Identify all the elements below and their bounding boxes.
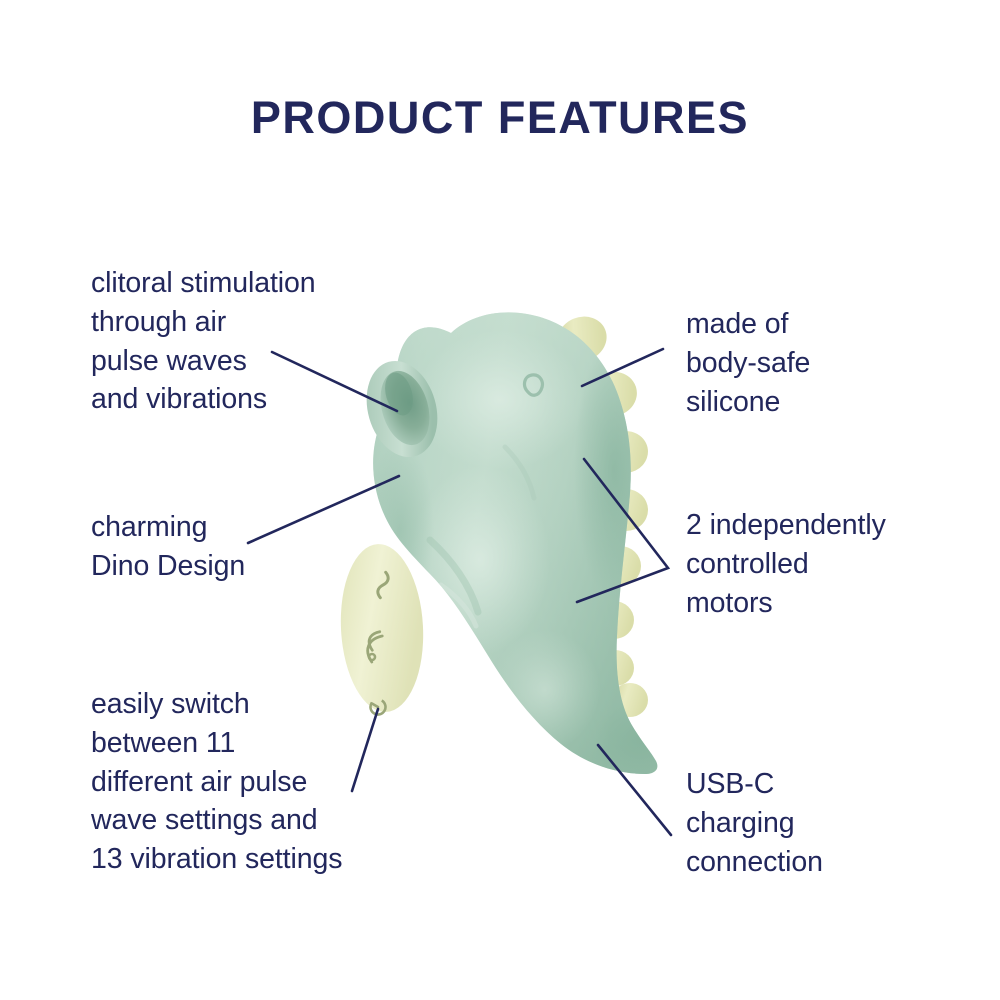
leader-line-dino-design — [248, 476, 399, 543]
leader-line-settings — [352, 709, 378, 791]
leader-line-silicone — [582, 349, 663, 386]
leader-line-usbc — [598, 745, 671, 835]
product-features-infographic: PRODUCT FEATURES — [0, 0, 1000, 1000]
leader-line-motors — [577, 459, 668, 602]
leader-line-air-pulse — [272, 352, 397, 411]
leader-lines — [0, 0, 1000, 1000]
